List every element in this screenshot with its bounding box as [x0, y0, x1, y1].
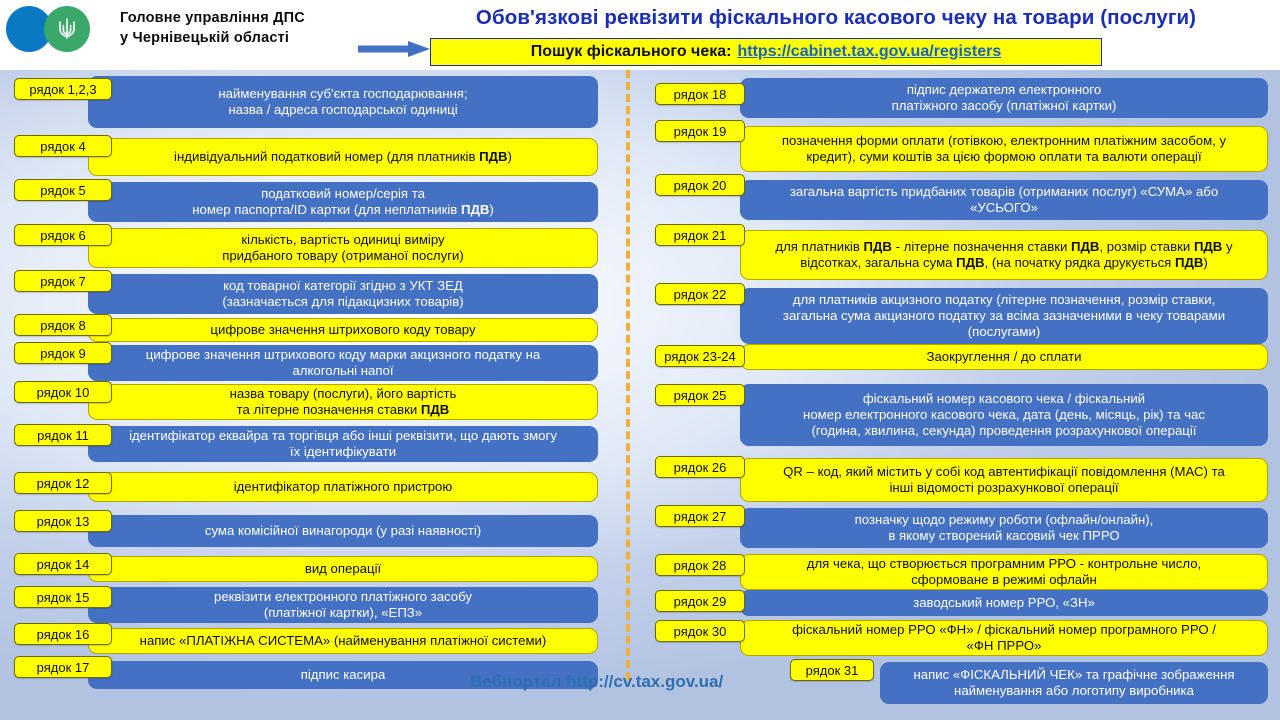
- requisite-bar-right-9: позначку щодо режиму роботи (офлайн/онла…: [740, 508, 1268, 548]
- row-tag-рядок-1,2,3: рядок 1,2,3: [14, 78, 112, 100]
- row-tag-рядок-27: рядок 27: [655, 505, 745, 527]
- requisite-bar-left-3: податковий номер/серія таномер паспорта/…: [88, 182, 598, 222]
- requisite-text: найменування суб'єкта господарювання;наз…: [218, 86, 467, 118]
- requisite-text: напис «ПЛАТІЖНА СИСТЕМА» (найменування п…: [140, 633, 547, 649]
- row-tag-рядок-26: рядок 26: [655, 456, 745, 478]
- requisite-bar-left-13: реквізити електронного платіжного засобу…: [88, 587, 598, 623]
- requisite-text: позначку щодо режиму роботи (офлайн/онла…: [855, 512, 1154, 544]
- row-tag-рядок-7: рядок 7: [14, 270, 112, 292]
- requisite-bar-left-11: сума комісійної винагороди (у разі наявн…: [88, 515, 598, 547]
- requisite-text: для чека, що створюється програмним РРО …: [807, 556, 1201, 588]
- row-tag-рядок-9: рядок 9: [14, 342, 112, 364]
- requisite-bar-left-2: індивідуальний податковий номер (для пла…: [88, 138, 598, 176]
- webportal-link[interactable]: Вебпортал http://cv.tax.gov.ua/: [470, 672, 723, 692]
- requisite-text: для платників акцизного податку (літерне…: [783, 292, 1225, 340]
- row-tag-рядок-11: рядок 11: [14, 424, 112, 446]
- requisite-text: для платників ПДВ - літерне позначення с…: [775, 239, 1232, 271]
- row-tag-рядок-14: рядок 14: [14, 553, 112, 575]
- row-tag-рядок-19: рядок 19: [655, 120, 745, 142]
- row-tag-рядок-15: рядок 15: [14, 586, 112, 608]
- requisite-text: QR – код, який містить у собі код автент…: [783, 464, 1225, 496]
- row-tag-рядок-4: рядок 4: [14, 135, 112, 157]
- requisite-text: індивідуальний податковий номер (для пла…: [174, 149, 512, 165]
- row-tag-рядок-23-24: рядок 23-24: [655, 345, 745, 367]
- requisite-bar-left-4: кількість, вартість одиниці вимірупридба…: [88, 228, 598, 268]
- requisite-text: фіскальний номер касового чека / фіскаль…: [803, 391, 1205, 439]
- requisite-text: кількість, вартість одиниці вимірупридба…: [222, 232, 464, 264]
- row-tag-рядок-30: рядок 30: [655, 620, 745, 642]
- department-line-1: Головне управління ДПС: [120, 8, 388, 28]
- requisite-text: сума комісійної винагороди (у разі наявн…: [205, 523, 481, 539]
- requisite-text: цифрове значення штрихового коду товару: [210, 322, 475, 338]
- requisite-bar-left-7: цифрове значення штрихового коду марки а…: [88, 345, 598, 381]
- requisite-text: податковий номер/серія таномер паспорта/…: [192, 186, 494, 218]
- row-tag-рядок-20: рядок 20: [655, 174, 745, 196]
- requisite-text: підпис держателя електронногоплатіжного …: [892, 82, 1117, 114]
- row-tag-рядок-8: рядок 8: [14, 314, 112, 336]
- row-tag-рядок-5: рядок 5: [14, 179, 112, 201]
- row-tag-рядок-12: рядок 12: [14, 472, 112, 494]
- requisite-text: реквізити електронного платіжного засобу…: [214, 589, 472, 621]
- requisite-text: цифрове значення штрихового коду марки а…: [146, 347, 540, 379]
- requisite-bar-right-10: для чека, що створюється програмним РРО …: [740, 554, 1268, 590]
- row-tag-рядок-13: рядок 13: [14, 510, 112, 532]
- requisite-bar-right-5: для платників акцизного податку (літерне…: [740, 288, 1268, 344]
- requisite-bar-right-13: напис «ФІСКАЛЬНИЙ ЧЕК» та графічне зобра…: [880, 662, 1268, 704]
- logo-group: [6, 6, 114, 52]
- requisite-text: позначення форми оплати (готівкою, елект…: [782, 133, 1226, 165]
- requisite-bar-left-6: цифрове значення штрихового коду товару: [88, 318, 598, 342]
- search-receipt-banner[interactable]: Пошук фіскального чека: https://cabinet.…: [430, 38, 1102, 66]
- requisite-bar-left-1: найменування суб'єкта господарювання;наз…: [88, 76, 598, 128]
- row-tag-рядок-21: рядок 21: [655, 224, 745, 246]
- requisite-text: загальна вартість придбаних товарів (отр…: [790, 184, 1218, 216]
- requisite-bar-left-9: ідентифікатор еквайра та торгівця або ін…: [88, 426, 598, 462]
- requisite-bar-left-10: ідентифікатор платіжного пристрою: [88, 472, 598, 502]
- column-divider: [626, 70, 630, 680]
- requisite-text: ідентифікатор еквайра та торгівця або ін…: [129, 428, 557, 460]
- requisite-text: заводський номер РРО, «ЗН»: [913, 595, 1095, 611]
- department-name: Головне управління ДПС у Чернівецькій об…: [120, 8, 388, 48]
- requisite-text: підпис касира: [301, 667, 386, 683]
- requisite-bar-left-8: назва товару (послуги), його вартістьта …: [88, 384, 598, 420]
- requisite-bar-right-7: фіскальний номер касового чека / фіскаль…: [740, 384, 1268, 446]
- row-tag-рядок-6: рядок 6: [14, 224, 112, 246]
- requisite-text: вид операції: [305, 561, 381, 577]
- requisite-text: Заокруглення / до сплати: [926, 349, 1081, 365]
- requisite-bar-left-5: код товарної категорії згідно з УКТ ЗЕД(…: [88, 274, 598, 314]
- row-tag-рядок-16: рядок 16: [14, 623, 112, 645]
- row-tag-рядок-29: рядок 29: [655, 590, 745, 612]
- search-label: Пошук фіскального чека:: [531, 43, 732, 61]
- tryzub-logo: [44, 6, 90, 52]
- requisite-bar-right-3: загальна вартість придбаних товарів (отр…: [740, 180, 1268, 220]
- requisite-bar-right-12: фіскальний номер РРО «ФН» / фіскальний н…: [740, 620, 1268, 656]
- row-tag-рядок-25: рядок 25: [655, 384, 745, 406]
- requisite-text: напис «ФІСКАЛЬНИЙ ЧЕК» та графічне зобра…: [913, 667, 1234, 699]
- page-title: Обов'язкові реквізити фіскального касово…: [392, 6, 1280, 30]
- requisite-bar-right-2: позначення форми оплати (готівкою, елект…: [740, 126, 1268, 172]
- requisite-bar-right-11: заводський номер РРО, «ЗН»: [740, 590, 1268, 616]
- requisite-bar-right-8: QR – код, який містить у собі код автент…: [740, 458, 1268, 502]
- right-arrow-icon: [358, 41, 430, 57]
- row-tag-рядок-18: рядок 18: [655, 83, 745, 105]
- requisite-bar-left-14: напис «ПЛАТІЖНА СИСТЕМА» (найменування п…: [88, 628, 598, 654]
- requisite-bar-right-4: для платників ПДВ - літерне позначення с…: [740, 230, 1268, 280]
- row-tag-рядок-31: рядок 31: [790, 659, 874, 681]
- cabinet-registers-link[interactable]: https://cabinet.tax.gov.ua/registers: [737, 43, 1001, 61]
- requisite-text: ідентифікатор платіжного пристрою: [234, 479, 453, 495]
- row-tag-рядок-28: рядок 28: [655, 554, 745, 576]
- requisite-text: назва товару (послуги), його вартістьта …: [230, 386, 457, 418]
- requisite-bar-left-12: вид операції: [88, 556, 598, 582]
- requisite-bar-right-1: підпис держателя електронногоплатіжного …: [740, 78, 1268, 118]
- department-line-2: у Чернівецькій області: [120, 28, 388, 48]
- requisite-text: код товарної категорії згідно з УКТ ЗЕД(…: [222, 278, 463, 310]
- row-tag-рядок-22: рядок 22: [655, 283, 745, 305]
- requisite-bar-right-6: Заокруглення / до сплати: [740, 344, 1268, 370]
- row-tag-рядок-17: рядок 17: [14, 656, 112, 678]
- row-tag-рядок-10: рядок 10: [14, 381, 112, 403]
- requisite-text: фіскальний номер РРО «ФН» / фіскальний н…: [792, 622, 1216, 654]
